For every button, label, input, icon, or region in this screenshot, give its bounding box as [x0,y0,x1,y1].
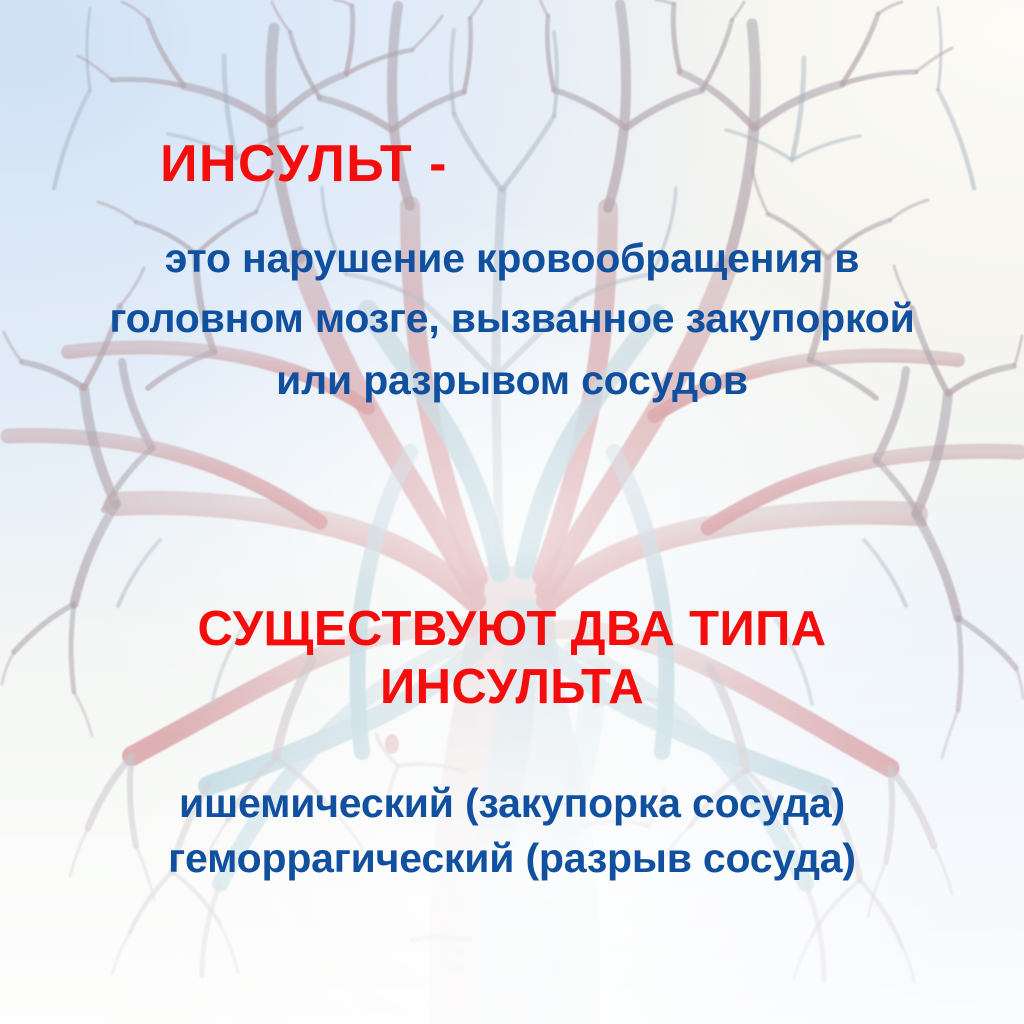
definition-line-2: головном мозге, вызванное закупоркой [0,298,1024,339]
page-title: ИНСУЛЬТ - [0,138,816,190]
stroke-type-hemorrhagic: геморрагический (разрыв сосуда) [0,838,1024,879]
definition-line-3: или разрывом сосудов [0,360,1024,401]
stroke-type-ischemic: ишемический (закупорка сосуда) [0,783,1024,824]
types-heading-line-1: СУЩЕСТВУЮТ ДВА ТИПА [0,605,1024,654]
definition-line-1: это нарушение кровообращения в [0,238,1024,279]
types-heading-line-2: ИНСУЛЬТА [0,663,1024,712]
poster-text-layer: ИНСУЛЬТ - это нарушение кровообращения в… [0,0,1024,1024]
stroke-info-poster: ИНСУЛЬТ - это нарушение кровообращения в… [0,0,1024,1024]
